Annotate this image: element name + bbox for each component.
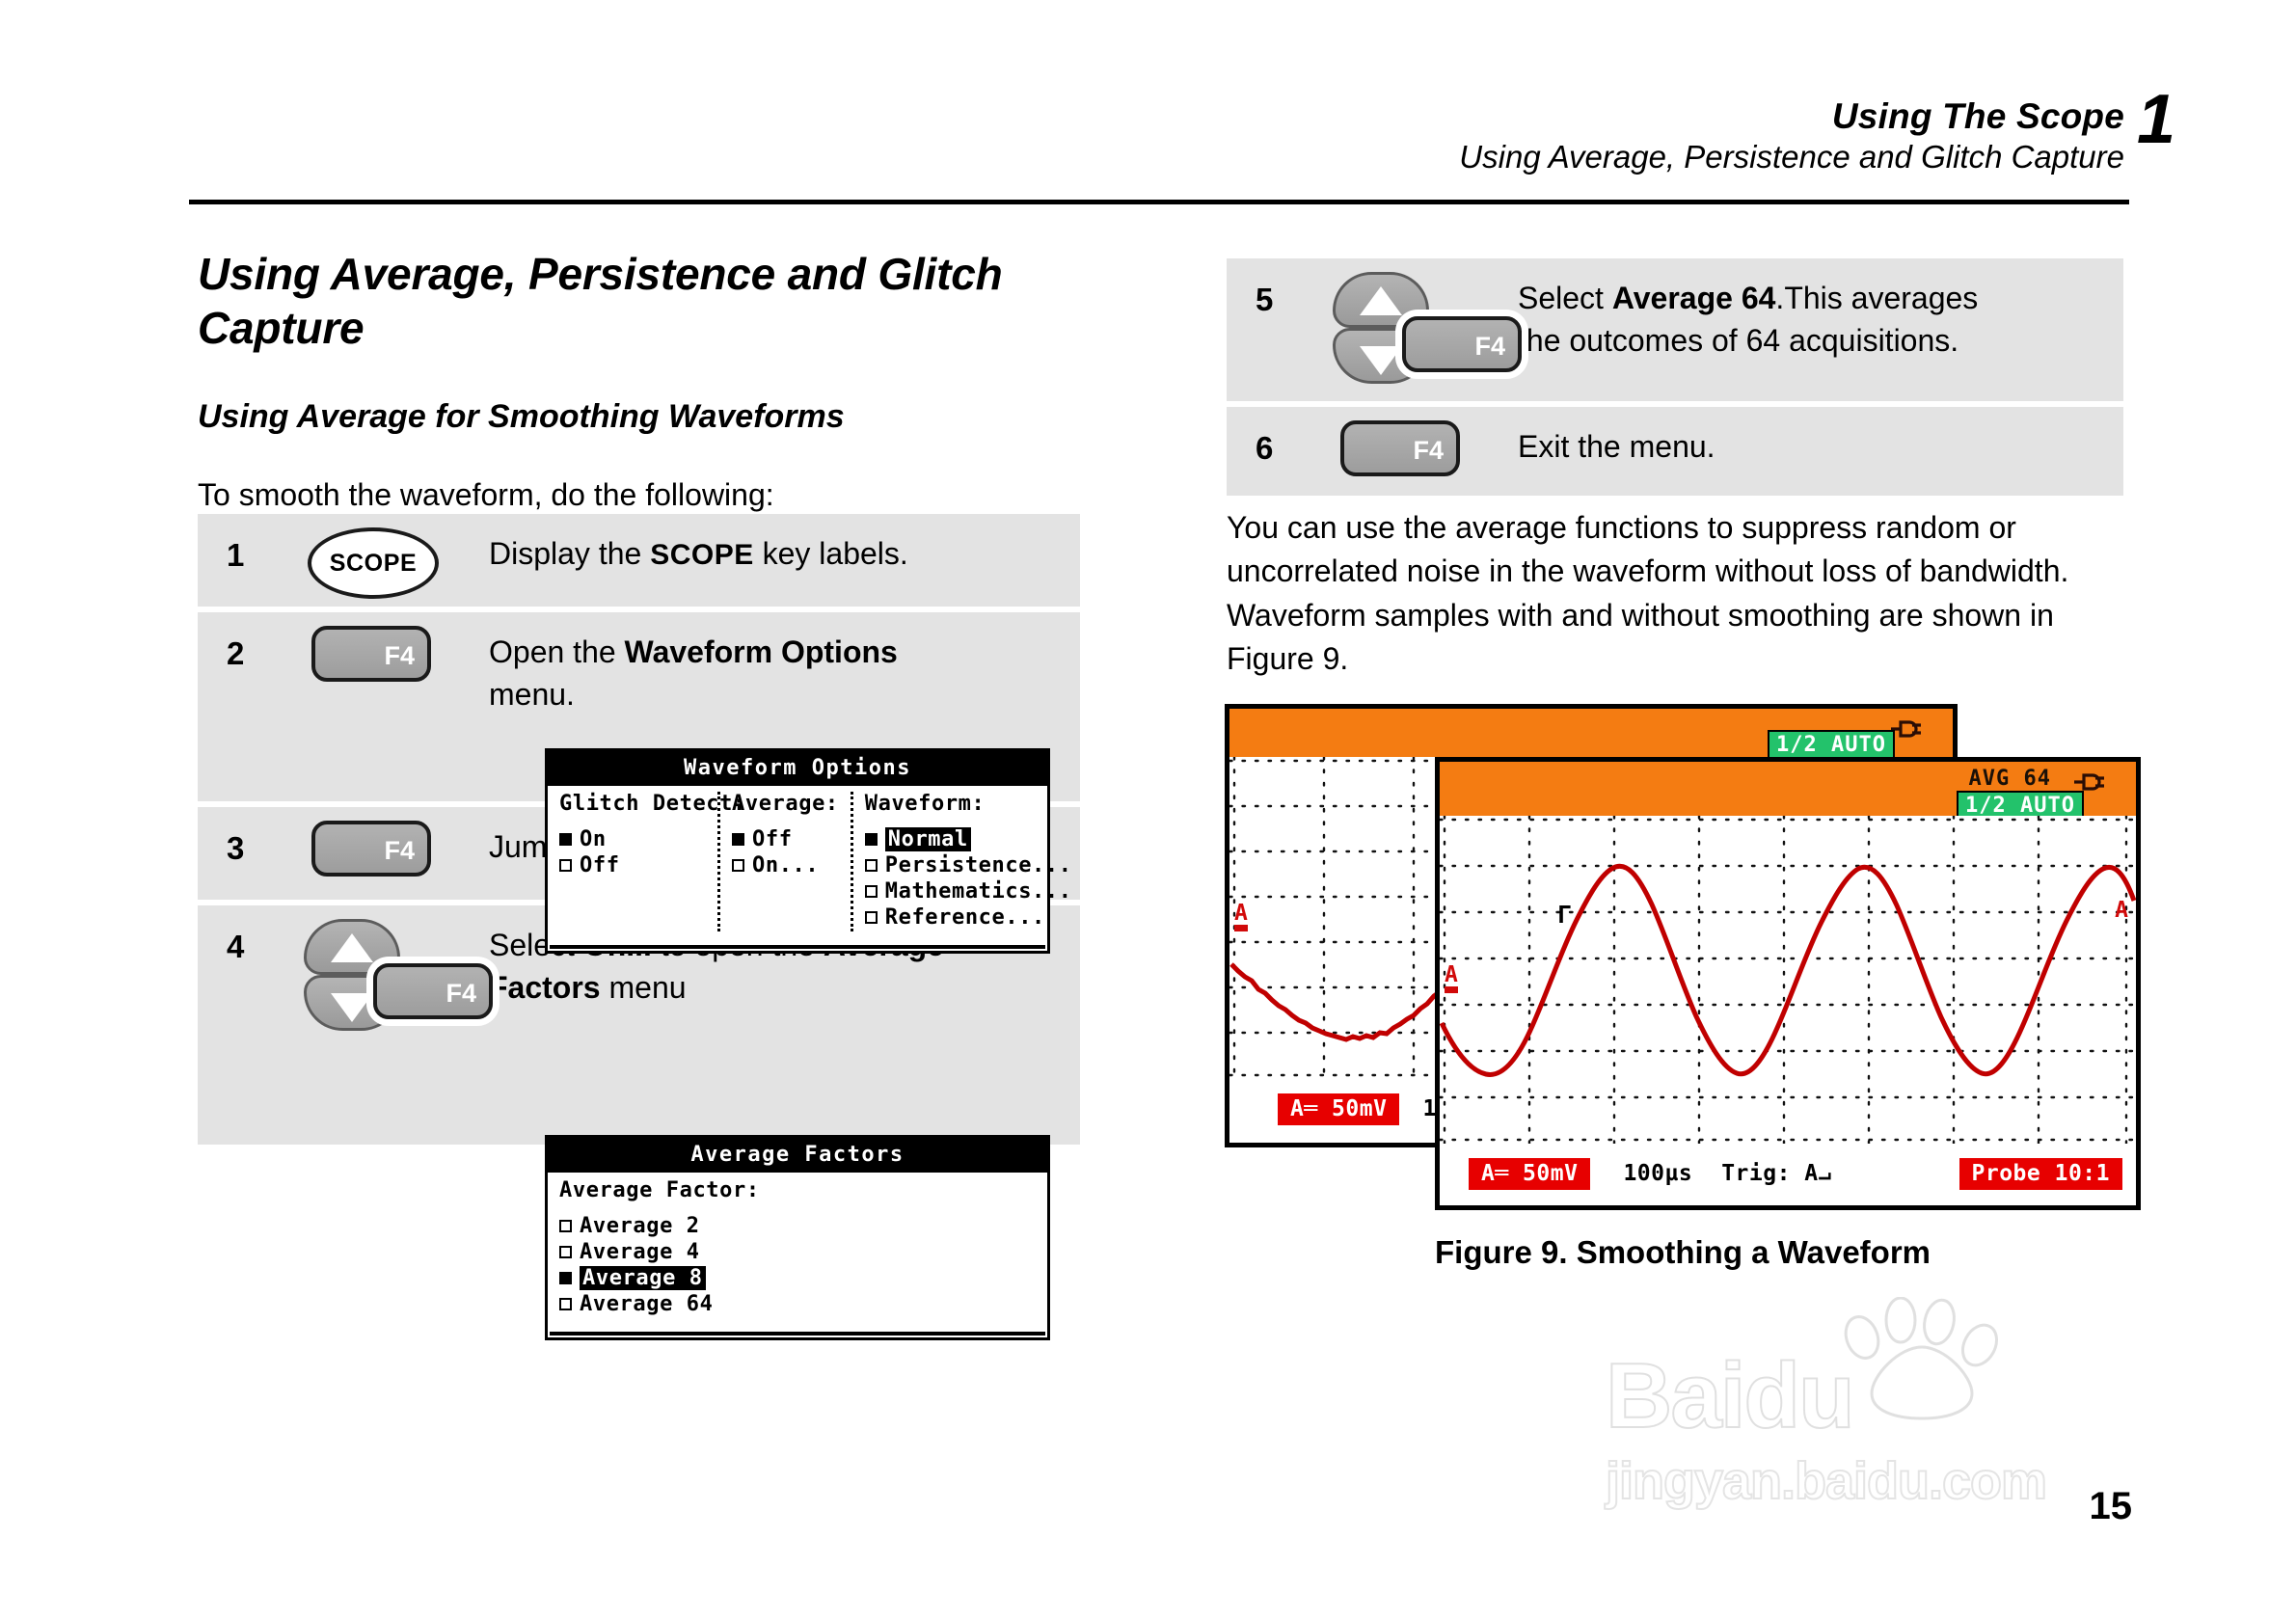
step-description: Exit the menu. <box>1518 407 2123 469</box>
channel-a-marker-right: A <box>2115 901 2128 921</box>
step-row: 6 F4 Exit the menu. <box>1227 407 2123 496</box>
f4-key-button[interactable]: F4 <box>311 626 431 682</box>
lcd-menu-item-off[interactable]: Off <box>559 853 706 877</box>
scope-volts-per-div: A═ 50mV <box>1469 1158 1590 1190</box>
step-number: 6 <box>1227 407 1319 467</box>
scope-key-label: SCOPE <box>330 550 418 578</box>
step-number: 2 <box>198 612 290 672</box>
arrow-key-pad: F4 <box>304 919 477 1031</box>
plug-icon <box>1889 716 1933 742</box>
f4-key-label: F4 <box>384 836 415 866</box>
step-desc-bold: Waveform Options <box>625 634 898 669</box>
lcd-item-label: Mathematics... <box>885 879 1072 904</box>
header-rule <box>189 200 2129 204</box>
header-subtitle: Using Average, Persistence and Glitch Ca… <box>1459 138 2124 176</box>
radio-empty-icon <box>559 1220 572 1232</box>
step-number: 3 <box>198 807 290 867</box>
f4-key-button[interactable]: F4 <box>311 821 431 877</box>
step-desc-pre: Open the <box>489 634 625 669</box>
chapter-number: 1 <box>2137 85 2175 154</box>
f4-key-label: F4 <box>384 641 415 671</box>
header-title-block: Using The Scope Using Average, Persisten… <box>1459 94 2124 176</box>
radio-filled-icon <box>865 833 878 846</box>
lcd-column-average-factor: Average Factor: Average 2 Average 4 Aver… <box>548 1178 1047 1318</box>
step-number: 4 <box>198 905 290 965</box>
lcd-menu-item-on[interactable]: On <box>559 827 706 851</box>
lcd-menu-item-average-on[interactable]: On... <box>732 853 839 877</box>
step-desc-pre: Exit the menu. <box>1518 429 1715 464</box>
watermark-url: jingyan.baidu.com <box>1606 1451 2046 1511</box>
f4-key-label: F4 <box>1413 436 1444 466</box>
step-row: 1 SCOPE Display the SCOPE key labels. <box>198 514 1080 607</box>
lcd-column-glitch-detect: Glitch Detect: On Off <box>548 792 717 931</box>
intro-paragraph: To smooth the waveform, do the following… <box>198 473 1085 517</box>
lcd-menu-item-average-64[interactable]: Average 64 <box>559 1292 1036 1316</box>
average-factors-menu: Average Factors Average Factor: Average … <box>545 1135 1050 1340</box>
step-desc-line2: menu. <box>489 677 575 712</box>
step-desc-post: .This averages <box>1775 281 1978 315</box>
lcd-item-label: Average 2 <box>580 1214 700 1238</box>
scope-timebase: 100µs <box>1623 1161 1692 1186</box>
scope-trigger-info: Trig: A⨼ <box>1721 1161 1831 1186</box>
radio-empty-icon <box>865 859 878 872</box>
scope-key-button[interactable]: SCOPE <box>308 527 439 599</box>
lcd-column-average: Average: Off On... <box>717 792 851 931</box>
lcd-menu-item-average-4[interactable]: Average 4 <box>559 1240 1036 1264</box>
lcd-item-label: Persistence... <box>885 853 1072 877</box>
step-number: 5 <box>1227 258 1319 318</box>
scope-header-bar: 1/2 AUTO <box>1229 709 1953 757</box>
lcd-bottom-rule <box>550 945 1045 949</box>
radio-empty-icon <box>559 1298 572 1310</box>
lcd-menu-item-average-off[interactable]: Off <box>732 827 839 851</box>
step-desc-bold: Average 64 <box>1612 281 1776 315</box>
lcd-menu-title: Average Factors <box>548 1138 1047 1173</box>
step-key-graphic: SCOPE <box>290 514 489 599</box>
lcd-menu-item-average-2[interactable]: Average 2 <box>559 1214 1036 1238</box>
lcd-menu-item-reference[interactable]: Reference... <box>865 905 1072 930</box>
radio-empty-icon <box>732 859 744 872</box>
step-description: Open the Waveform Options menu. <box>489 612 1080 715</box>
scope-header-bar: AVG 64 1/2 AUTO <box>1440 762 2136 816</box>
radio-empty-icon <box>865 911 878 924</box>
page-header: Using The Scope Using Average, Persisten… <box>0 0 2296 207</box>
f4-key-label: F4 <box>446 979 476 1009</box>
lcd-item-label: Average 64 <box>580 1292 713 1316</box>
arrow-down-icon <box>331 993 373 1022</box>
scope-footer-bar: A═ 50mV 100µs Trig: A⨼ Probe 10:1 <box>1440 1144 2136 1203</box>
paw-icon <box>1837 1297 2011 1422</box>
step-desc-pre: Display the <box>489 536 650 571</box>
lcd-item-label: Off <box>752 827 793 851</box>
arrow-up-icon <box>331 933 373 962</box>
step-key-graphic: F4 <box>290 807 489 877</box>
lcd-item-label: Average 4 <box>580 1240 700 1264</box>
channel-a-marker: A <box>1234 904 1248 931</box>
left-column: Using Average, Persistence and Glitch Ca… <box>198 247 1085 517</box>
lcd-column-heading: Waveform: <box>865 792 1072 816</box>
watermark-brand: Baidu <box>1606 1343 1853 1449</box>
step-key-graphic: F4 <box>290 612 489 682</box>
radio-filled-icon <box>559 833 572 846</box>
f4-key-label: F4 <box>1474 332 1505 362</box>
lcd-item-label: Reference... <box>885 905 1045 930</box>
page-number: 15 <box>2090 1485 2133 1528</box>
lcd-menu-item-mathematics[interactable]: Mathematics... <box>865 879 1072 904</box>
step-desc-line2-bold: Factors <box>489 970 601 1005</box>
scope-plot-area: A A Г <box>1440 816 2136 1144</box>
f4-key-button[interactable]: F4 <box>373 963 493 1019</box>
lcd-menu-body: Glitch Detect: On Off Average: Off On...… <box>548 786 1047 941</box>
radio-filled-icon <box>559 1272 572 1284</box>
f4-key-button[interactable]: F4 <box>1340 420 1460 476</box>
scope-volts-per-div: A═ 50mV <box>1278 1093 1399 1125</box>
step-key-graphic: F4 <box>1319 407 1518 476</box>
step-description: Select Average 64.This averages the outc… <box>1518 258 2123 362</box>
lcd-item-label: On <box>580 827 607 851</box>
arrow-key-pad: F4 <box>1333 272 1506 384</box>
lcd-column-heading: Average Factor: <box>559 1178 1036 1202</box>
lcd-item-label: Average 8 <box>580 1266 706 1290</box>
scope-probe-setting: Probe 10:1 <box>1959 1158 2122 1190</box>
radio-empty-icon <box>559 1246 572 1258</box>
scope-waveform-smoothed <box>1440 816 2136 1144</box>
lcd-item-label: Normal <box>885 827 971 851</box>
figure-caption: Figure 9. Smoothing a Waveform <box>1225 1234 2141 1271</box>
f4-key-button[interactable]: F4 <box>1402 316 1522 372</box>
scope-avg-label: AVG 64 <box>1969 767 2051 791</box>
steps-table-right: 5 F4 Select Average 64.This averages the… <box>1227 258 2123 501</box>
lcd-column-heading: Average: <box>732 792 839 816</box>
step-desc-line2: the outcomes of 64 acquisitions. <box>1518 323 1958 358</box>
baidu-watermark: Baidu jingyan.baidu.com <box>1596 1297 2174 1557</box>
radio-empty-icon <box>865 885 878 898</box>
section-heading: Using Average, Persistence and Glitch Ca… <box>198 247 1085 355</box>
radio-filled-icon <box>732 833 744 846</box>
lcd-menu-item-average-8[interactable]: Average 8 <box>559 1266 1036 1290</box>
step-desc-post: key labels. <box>754 536 908 571</box>
lcd-menu-item-normal[interactable]: Normal <box>865 827 1072 851</box>
lcd-item-label: Off <box>580 853 620 877</box>
step-number: 1 <box>198 514 290 574</box>
lcd-item-label: On... <box>752 853 819 877</box>
radio-empty-icon <box>559 859 572 872</box>
lcd-column-heading: Glitch Detect: <box>559 792 706 816</box>
figure-scope-screens: 1/2 AUTO <box>1225 704 2141 1215</box>
lcd-menu-body: Average Factor: Average 2 Average 4 Aver… <box>548 1173 1047 1328</box>
header-title: Using The Scope <box>1459 94 2124 138</box>
lcd-column-waveform: Waveform: Normal Persistence... Mathemat… <box>851 792 1084 931</box>
lcd-menu-item-persistence[interactable]: Persistence... <box>865 853 1072 877</box>
lcd-menu-title: Waveform Options <box>548 751 1047 786</box>
arrow-up-icon <box>1360 286 1402 315</box>
scope-screen-smoothed: AVG 64 1/2 AUTO <box>1435 757 2141 1210</box>
step-key-graphic: F4 <box>1319 258 1518 384</box>
step-desc-line2-post: menu <box>601 970 687 1005</box>
right-paragraph: You can use the average functions to sup… <box>1227 506 2133 682</box>
arrow-down-icon <box>1360 346 1402 375</box>
channel-a-marker-left: A <box>1445 965 1458 993</box>
trigger-level-icon: Г <box>1557 901 1572 929</box>
step-description: Display the SCOPE key labels. <box>489 514 1080 576</box>
lcd-bottom-rule <box>550 1332 1045 1336</box>
waveform-options-menu: Waveform Options Glitch Detect: On Off A… <box>545 748 1050 954</box>
step-desc-pre: Select <box>1518 281 1612 315</box>
step-key-graphic: F4 <box>290 905 489 1031</box>
step-desc-keyname: SCOPE <box>650 539 754 571</box>
step-row: 5 F4 Select Average 64.This averages the… <box>1227 258 2123 401</box>
subsection-heading: Using Average for Smoothing Waveforms <box>198 397 1085 437</box>
